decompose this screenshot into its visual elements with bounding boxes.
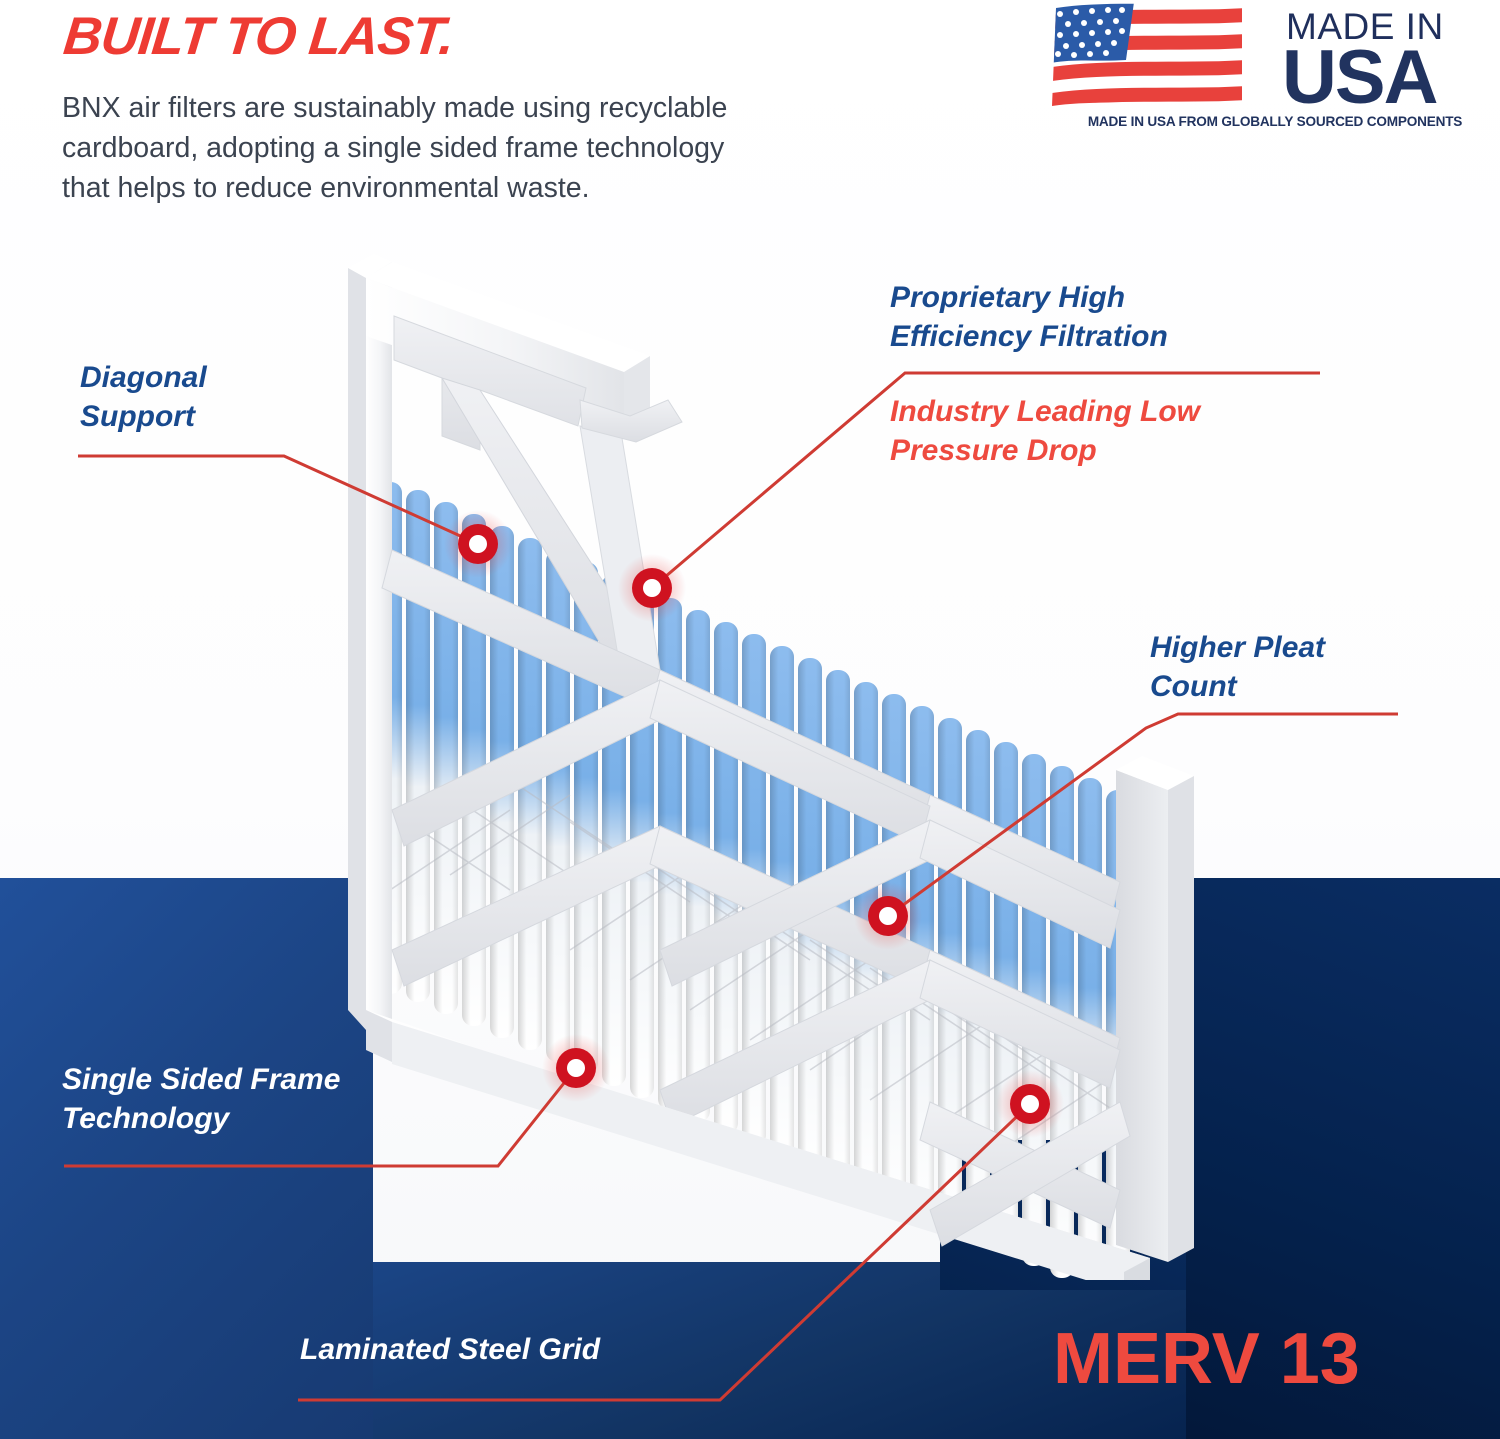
callout-line-2: Count — [1150, 667, 1325, 706]
callout-line-2: Support — [80, 397, 207, 436]
callout-line-2: Pressure Drop — [890, 431, 1200, 470]
callout-low-pressure-drop: Industry Leading Low Pressure Drop — [890, 392, 1200, 470]
callout-line-2: Efficiency Filtration — [890, 317, 1168, 356]
usa-flag-icon — [1046, 2, 1246, 114]
made-in-usa-badge: MADE IN USA MADE IN USA FROM GLOBALLY SO… — [1046, 2, 1486, 138]
product-infographic: BUILT TO LAST. BNX air filters are susta… — [0, 0, 1500, 1439]
callout-higher-pleat-count: Higher Pleat Count — [1150, 628, 1325, 706]
badge-usa-label: USA — [1282, 34, 1436, 121]
badge-disclaimer: MADE IN USA FROM GLOBALLY SOURCED COMPON… — [1060, 114, 1490, 129]
callout-diagonal-support: Diagonal Support — [80, 358, 207, 436]
callout-line-1: Laminated Steel Grid — [300, 1330, 600, 1369]
merv-rating-label: MERV 13 — [1053, 1318, 1360, 1400]
callout-single-sided-frame: Single Sided Frame Technology — [62, 1060, 340, 1138]
callout-line-2: Technology — [62, 1099, 340, 1138]
callout-line-1: Proprietary High — [890, 278, 1168, 317]
intro-paragraph: BNX air filters are sustainably made usi… — [62, 88, 762, 208]
callout-line-1: Single Sided Frame — [62, 1060, 340, 1099]
callout-proprietary-filtration: Proprietary High Efficiency Filtration — [890, 278, 1168, 356]
frame-right-endcap — [1116, 756, 1194, 1262]
page-title: BUILT TO LAST. — [61, 6, 457, 67]
callout-line-1: Industry Leading Low — [890, 392, 1200, 431]
callout-line-1: Diagonal — [80, 358, 207, 397]
callout-laminated-steel-grid: Laminated Steel Grid — [300, 1330, 600, 1369]
callout-line-1: Higher Pleat — [1150, 628, 1325, 667]
